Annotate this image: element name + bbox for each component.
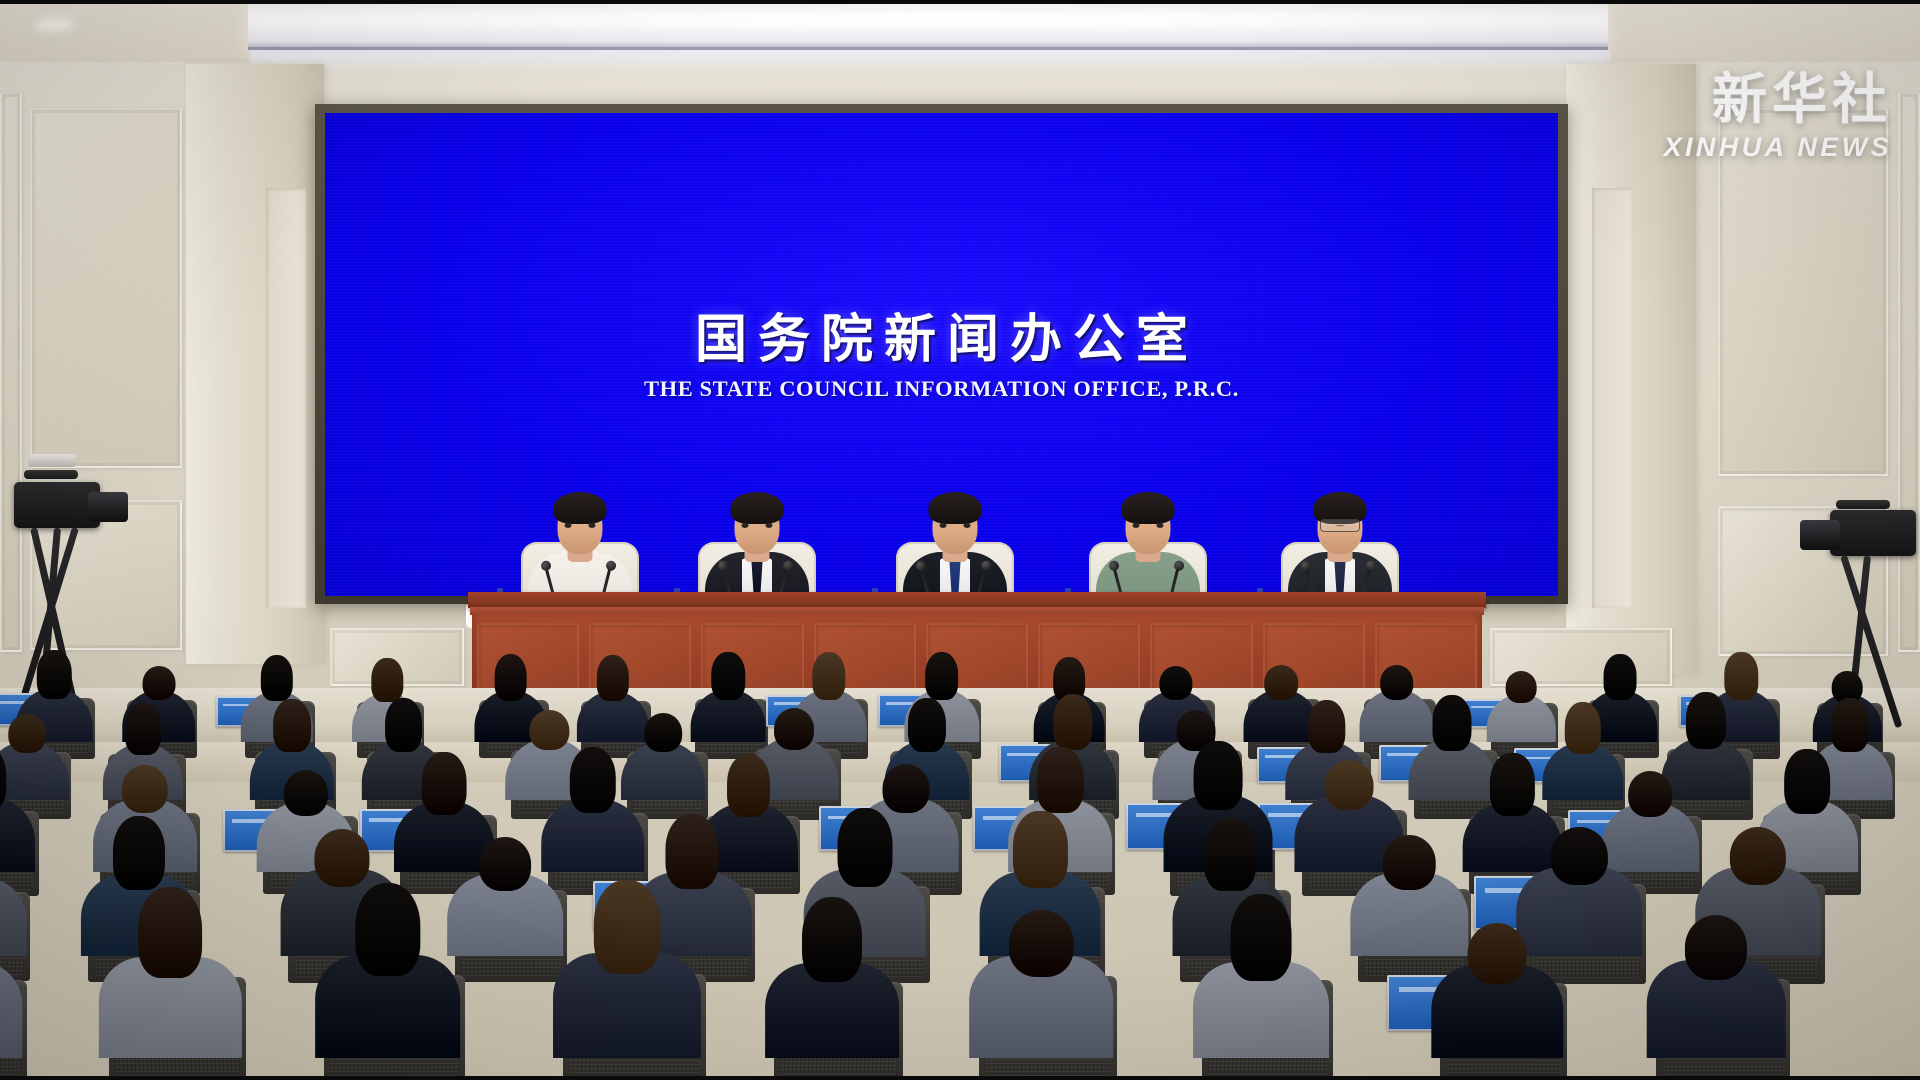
audience-member [387, 950, 388, 1058]
audience-member [793, 734, 794, 800]
screen-text-block: 国务院新闻办公室 THE STATE COUNCIL INFORMATION O… [325, 311, 1558, 402]
audience-head [479, 837, 531, 891]
audience-head [774, 708, 814, 750]
screen-title-chinese: 国务院新闻办公室 [325, 311, 1558, 369]
audience-head [1325, 760, 1374, 811]
panelist-eyes [742, 523, 773, 528]
audience-head [569, 747, 615, 813]
audience-head [314, 829, 369, 886]
audience-member [663, 738, 664, 800]
audience-head [594, 880, 660, 974]
audience-head [1230, 894, 1291, 981]
camera-hood-icon [28, 454, 76, 467]
audience-member [510, 688, 511, 742]
audience-head [802, 897, 862, 982]
wall-panel-left-edge [0, 92, 22, 652]
audience-member [505, 870, 506, 956]
audience-head [1831, 698, 1869, 752]
audience-head [1551, 827, 1607, 885]
audience-head [355, 883, 420, 976]
audience-head [1383, 835, 1436, 890]
recessed-ceiling-light-icon [39, 22, 70, 27]
audience-head [1468, 923, 1527, 984]
audience-head [925, 652, 959, 700]
audience-member [832, 959, 833, 1058]
audience-head [494, 654, 527, 701]
audience-member [592, 795, 593, 872]
ceiling-glow [250, 50, 1610, 74]
watermark-english: XINHUA NEWS [1664, 132, 1892, 163]
audience-head [1604, 654, 1637, 701]
audience-head [8, 714, 46, 753]
camera-body-icon [1830, 510, 1916, 556]
audience-member [1512, 799, 1513, 872]
panelist-hair [554, 492, 607, 524]
ceiling-right [1604, 0, 1920, 62]
audience-member [443, 798, 444, 872]
audience-head [1686, 692, 1726, 749]
audience-head [122, 765, 169, 813]
audience-member [1281, 686, 1282, 742]
audience-member [403, 737, 404, 800]
audience-head [666, 814, 719, 890]
audience-member [1497, 961, 1498, 1058]
audience-head [138, 887, 202, 978]
audience-member [1705, 734, 1706, 800]
audience-head [1380, 665, 1414, 700]
wall-panel-left-upper [30, 108, 182, 468]
press-conference-scene: 国务院新闻办公室 THE STATE COUNCIL INFORMATION O… [0, 0, 1920, 1080]
audience-member [1620, 688, 1621, 742]
audience-head [1009, 910, 1073, 977]
audience-head [1685, 915, 1747, 980]
xinhua-watermark: 新华社 XINHUA NEWS [1664, 72, 1892, 163]
audience-member [1260, 957, 1261, 1058]
watermark-chinese: 新华社 [1664, 72, 1892, 127]
audience-member [1396, 686, 1397, 742]
audience-head [1506, 671, 1537, 703]
screen-title-english: THE STATE COUNCIL INFORMATION OFFICE, P.… [325, 376, 1558, 402]
wall-panel-right-upper [1718, 108, 1888, 476]
audience-member [1349, 791, 1350, 872]
audience-head [1564, 702, 1600, 754]
audience-head [812, 652, 845, 700]
audience-member [1041, 952, 1042, 1058]
audience-member [728, 687, 729, 742]
audience-head [1193, 741, 1242, 810]
audience-member [27, 738, 28, 800]
audience-member [627, 948, 628, 1058]
audience-head [908, 698, 946, 752]
audience-head [1264, 665, 1298, 700]
audience-member [1521, 691, 1522, 742]
panelist-eyes [565, 523, 596, 528]
audience-head [113, 816, 165, 890]
audience-head [1204, 818, 1256, 891]
audience-member [906, 794, 907, 872]
pilaster-right-inset [1592, 188, 1632, 608]
audience-head [1724, 652, 1757, 700]
panelist-hair [929, 492, 982, 524]
audience-head [1730, 827, 1786, 885]
audience-head [883, 764, 930, 813]
audience-member [305, 799, 306, 872]
letterbox-bottom [0, 1076, 1920, 1080]
ceiling-left [0, 0, 250, 62]
audience-head [385, 698, 423, 752]
audience-head [1013, 811, 1067, 888]
audience-member [748, 799, 749, 872]
audience-head [1053, 694, 1092, 750]
audience-head [260, 655, 292, 701]
audience-member [1409, 869, 1410, 956]
audience-member [1741, 687, 1742, 742]
panelist-eyes [940, 523, 971, 528]
camera-lens-icon [1800, 520, 1840, 550]
audience-member [1650, 800, 1651, 872]
audience-head [711, 652, 744, 700]
panelist-hair [1122, 492, 1175, 524]
audience-member [692, 868, 693, 956]
panelist-eyes [1133, 523, 1164, 528]
camera-handle-icon [24, 470, 78, 479]
audience-head [1490, 753, 1534, 816]
audience-head [125, 703, 161, 754]
audience-member [1758, 863, 1759, 956]
audience-head [37, 650, 71, 699]
audience-member [1807, 796, 1808, 872]
audience-member [829, 687, 830, 742]
camera-handle-icon [1836, 500, 1890, 509]
audience-head [1628, 771, 1672, 816]
wall-panel-right-edge [1898, 92, 1920, 652]
audience-member [54, 685, 55, 742]
audience-member [1716, 955, 1717, 1058]
audience-member [1849, 737, 1850, 800]
letterbox-top [0, 0, 1920, 4]
audience-head [1432, 695, 1471, 751]
audience-head [422, 752, 467, 816]
audience-member [549, 735, 550, 800]
audience-member [1451, 735, 1452, 800]
panelist-glasses-icon [1320, 519, 1360, 532]
audience-member [170, 952, 171, 1058]
ceiling-light-soffit [248, 0, 1608, 50]
pilaster-left-inset [266, 188, 306, 608]
audience-head [1037, 747, 1084, 813]
audience-head [837, 808, 892, 886]
audience-head [596, 655, 628, 701]
audience-head [273, 699, 311, 753]
audience-head [530, 710, 569, 751]
audience-member [1579, 863, 1580, 956]
audience-head [1308, 700, 1345, 753]
audience-member [612, 688, 613, 742]
audience-head [142, 666, 175, 700]
audience-head [1784, 749, 1830, 814]
audience-member [864, 865, 865, 956]
panelist-hair [731, 492, 784, 524]
audience-head [283, 770, 327, 816]
audience-head [372, 658, 403, 703]
audience-head [727, 754, 771, 817]
audience-member [341, 865, 342, 956]
audience-head [645, 713, 683, 752]
table-top-surface [468, 592, 1486, 608]
camera-lens-icon [88, 492, 128, 522]
audience-head [1159, 666, 1192, 700]
audience-member [1582, 740, 1583, 800]
